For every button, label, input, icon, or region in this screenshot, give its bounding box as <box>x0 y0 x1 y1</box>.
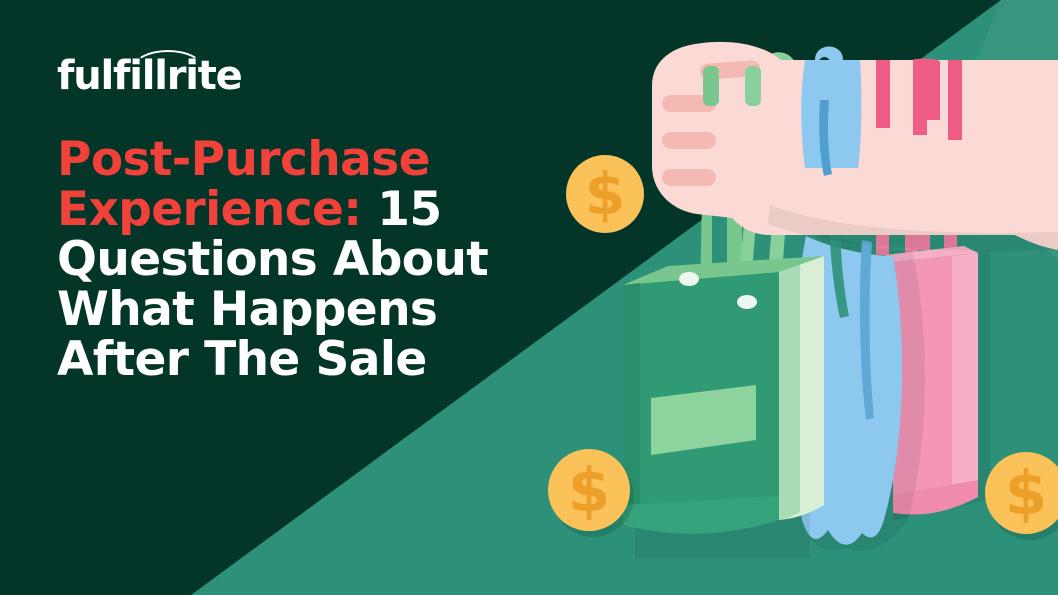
dollar-sign-icon: $ <box>568 460 610 521</box>
logo-wordmark: fulfillrite <box>57 56 242 96</box>
blog-header-banner: $ $ $ fulfillrite Post-Purchase Experien… <box>0 0 1058 595</box>
dollar-sign-icon: $ <box>585 165 625 223</box>
gold-coin-bottom-right: $ <box>985 452 1058 534</box>
gold-coin-bottom-left: $ <box>548 449 630 531</box>
fulfillrite-logo[interactable]: fulfillrite <box>57 52 237 100</box>
gold-coin-top: $ <box>566 155 644 233</box>
dollar-sign-icon: $ <box>1005 463 1047 524</box>
page-title: Post-Purchase Experience: 15 Questions A… <box>57 135 577 384</box>
